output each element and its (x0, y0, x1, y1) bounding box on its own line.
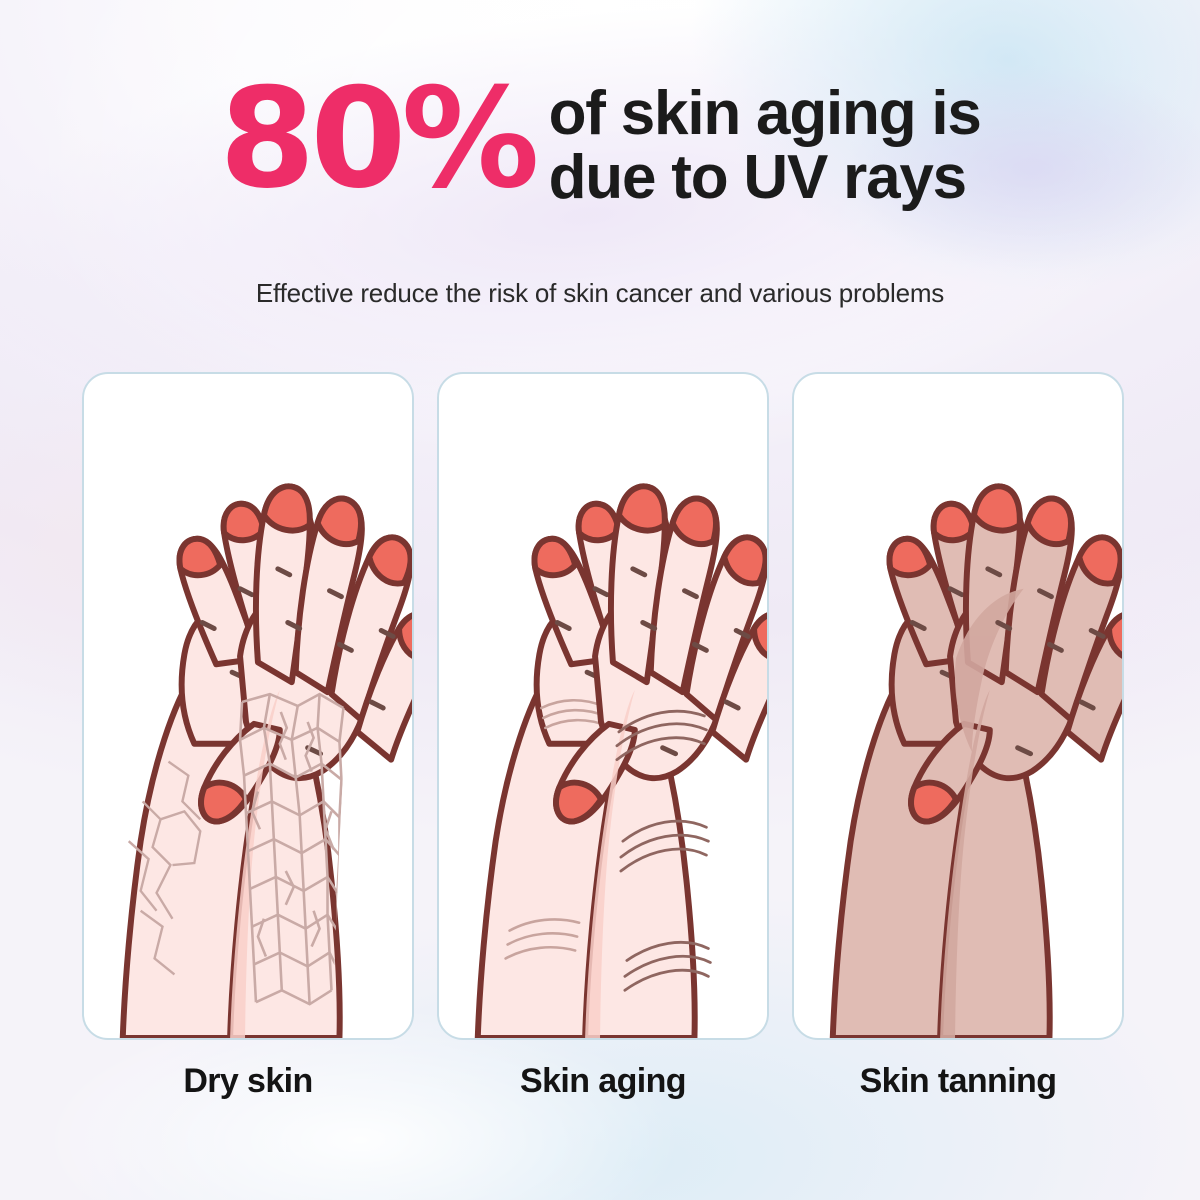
percent-stat: 80% (219, 76, 534, 203)
skin-tanning-illustration (794, 374, 1122, 1038)
skin-aging-illustration (439, 374, 767, 1038)
headline-line-2: due to UV rays (549, 146, 981, 210)
caption-row: Dry skin Skin aging Skin tanning (0, 1062, 1200, 1122)
card-row (0, 372, 1200, 1042)
card-dry-skin[interactable] (82, 372, 414, 1040)
poster-root: 80% of skin aging is due to UV rays Effe… (0, 0, 1200, 1200)
caption-dry-skin: Dry skin (82, 1062, 414, 1101)
subtitle: Effective reduce the risk of skin cancer… (0, 278, 1200, 309)
card-skin-tanning[interactable] (792, 372, 1124, 1040)
dry-skin-illustration (84, 374, 412, 1038)
headline: 80% of skin aging is due to UV rays (0, 82, 1200, 210)
caption-skin-tanning: Skin tanning (792, 1062, 1124, 1101)
headline-text: of skin aging is due to UV rays (549, 82, 981, 210)
caption-skin-aging: Skin aging (437, 1062, 769, 1101)
headline-line-1: of skin aging is (549, 82, 981, 146)
card-skin-aging[interactable] (437, 372, 769, 1040)
